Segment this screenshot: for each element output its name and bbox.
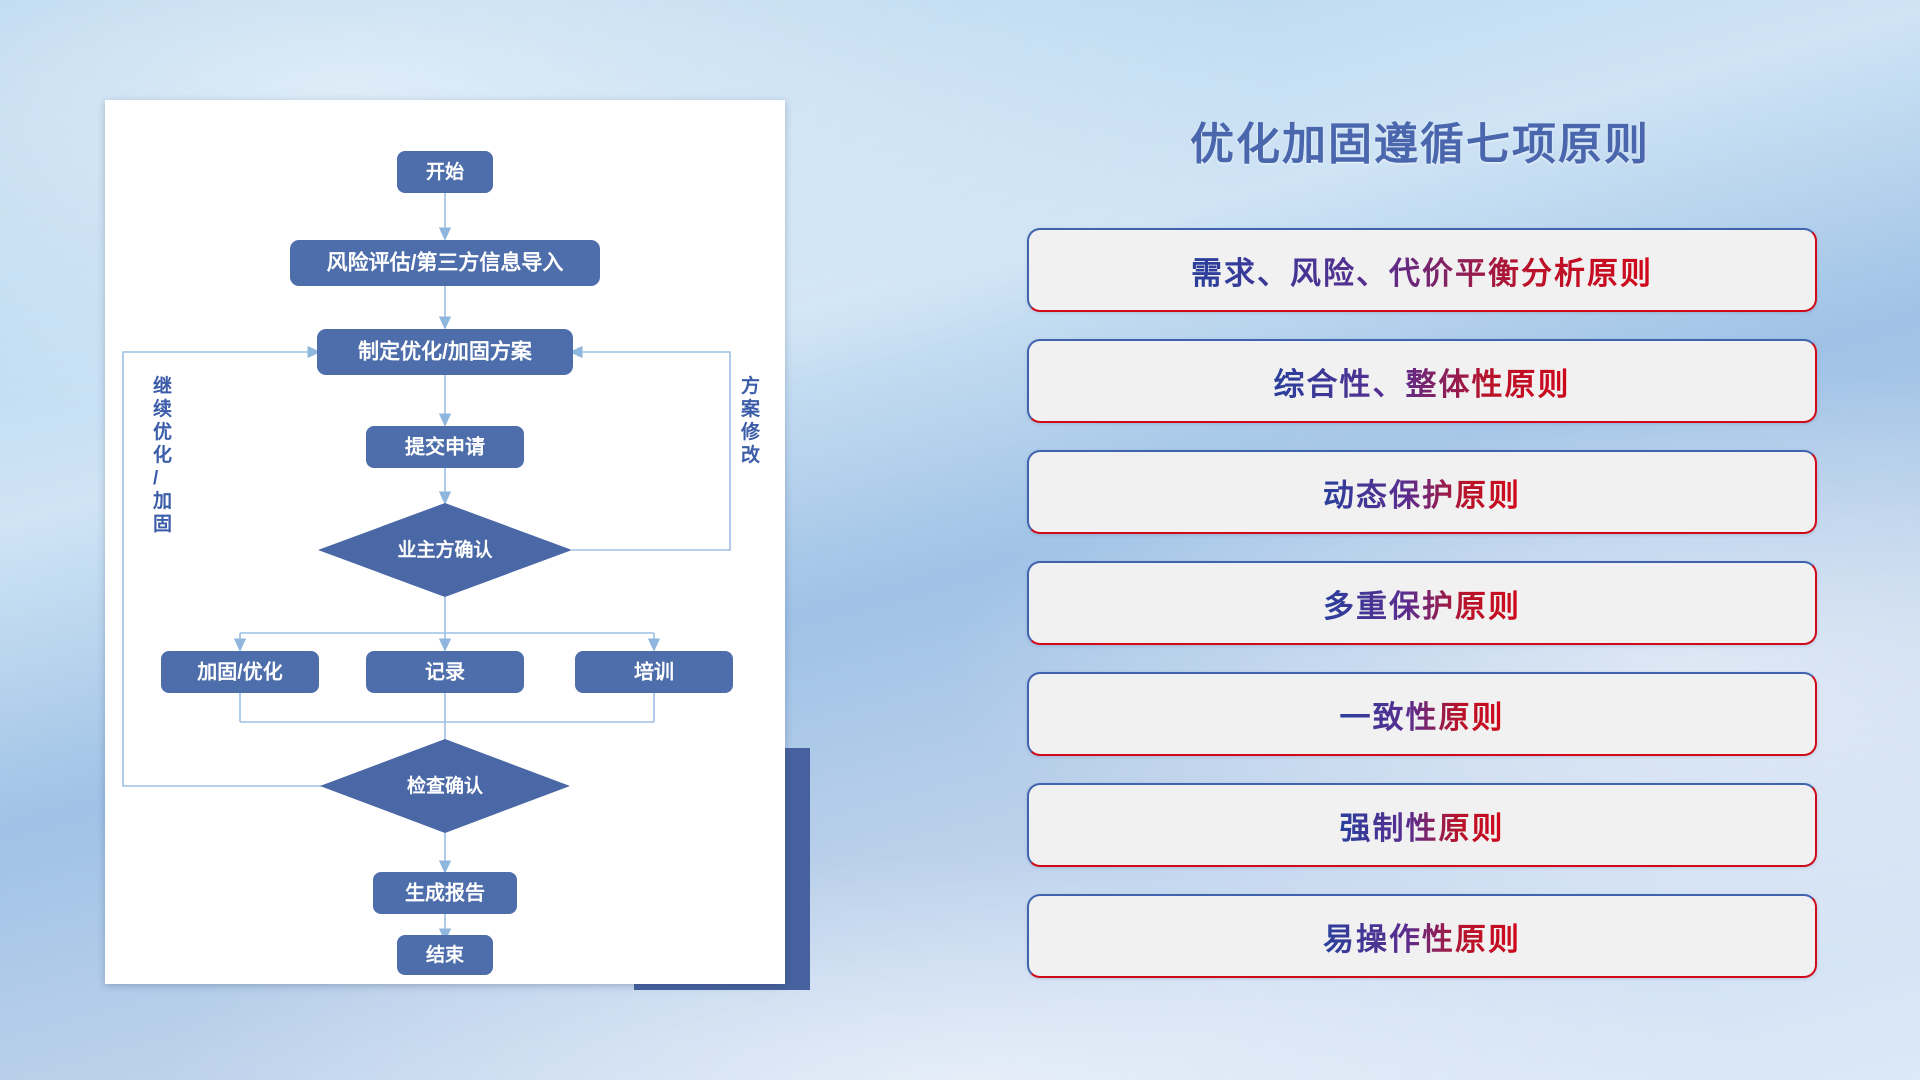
flow-node-training[interactable]: 培训 (575, 651, 733, 693)
flow-node-plan-label: 制定优化/加固方案 (358, 340, 533, 364)
principle-item-2[interactable]: 综合性、整体性原则 (1027, 339, 1817, 423)
flow-node-reinforce-label: 加固/优化 (196, 659, 283, 683)
flow-node-inspection-confirm-label: 检查确认 (407, 774, 483, 797)
principle-item-3-label: 动态保护原则 (1323, 470, 1521, 515)
flow-node-training-label: 培训 (634, 659, 674, 683)
principle-item-4[interactable]: 多重保护原则 (1027, 561, 1817, 645)
principle-item-6-label: 强制性原则 (1340, 803, 1505, 848)
flow-node-end[interactable]: 结束 (397, 935, 493, 975)
principle-item-5[interactable]: 一致性原则 (1027, 672, 1817, 756)
flow-node-start[interactable]: 开始 (397, 151, 493, 193)
flow-node-end-label: 结束 (426, 943, 465, 966)
flow-label-plan-revision: 方案修改 (740, 374, 761, 466)
flow-node-submit-label: 提交申请 (405, 434, 485, 458)
flow-nodes: 开始 风险评估/第三方信息导入 制定优化/加固方案 提交申请 业主方确认 加固/ (161, 151, 733, 975)
principle-item-3[interactable]: 动态保护原则 (1027, 450, 1817, 534)
principle-item-7[interactable]: 易操作性原则 (1027, 894, 1817, 978)
flow-node-start-label: 开始 (426, 160, 464, 183)
principle-item-4-label: 多重保护原则 (1323, 581, 1521, 626)
flow-node-record-label: 记录 (425, 660, 465, 683)
principle-item-1[interactable]: 需求、风险、代价平衡分析原则 (1027, 228, 1817, 312)
flow-label-continue-optimization: 继续优化/加固 (152, 374, 172, 535)
principle-item-1-label: 需求、风险、代价平衡分析原则 (1191, 248, 1653, 293)
principles-list: 需求、风险、代价平衡分析原则 综合性、整体性原则 动态保护原则 多重保护原则 一… (1027, 228, 1817, 1005)
principle-item-6[interactable]: 强制性原则 (1027, 783, 1817, 867)
principle-item-7-label: 易操作性原则 (1323, 914, 1521, 959)
principle-item-5-label: 一致性原则 (1340, 692, 1505, 737)
principle-item-2-label: 综合性、整体性原则 (1274, 359, 1571, 404)
flow-node-plan[interactable]: 制定优化/加固方案 (317, 329, 573, 375)
flow-node-record[interactable]: 记录 (366, 651, 524, 693)
flow-node-owner-confirm-label: 业主方确认 (397, 538, 492, 561)
flow-node-risk-assessment[interactable]: 风险评估/第三方信息导入 (290, 240, 600, 286)
flow-node-generate-report[interactable]: 生成报告 (373, 872, 517, 914)
flowchart-card: 开始 风险评估/第三方信息导入 制定优化/加固方案 提交申请 业主方确认 加固/ (105, 100, 785, 984)
flow-node-generate-report-label: 生成报告 (405, 880, 485, 904)
flow-node-reinforce[interactable]: 加固/优化 (161, 651, 319, 693)
principles-panel: 优化加固遵循七项原则 需求、风险、代价平衡分析原则 综合性、整体性原则 动态保护… (1020, 0, 1920, 1080)
edge-owner-revise-plan (572, 352, 730, 550)
flow-node-submit[interactable]: 提交申请 (366, 426, 524, 468)
flow-node-inspection-confirm[interactable]: 检查确认 (320, 739, 570, 833)
flowchart-canvas: 开始 风险评估/第三方信息导入 制定优化/加固方案 提交申请 业主方确认 加固/ (105, 100, 785, 984)
flow-node-owner-confirm[interactable]: 业主方确认 (318, 503, 572, 597)
flow-node-risk-assessment-label: 风险评估/第三方信息导入 (327, 251, 564, 275)
page-title: 优化加固遵循七项原则 (1020, 108, 1820, 172)
